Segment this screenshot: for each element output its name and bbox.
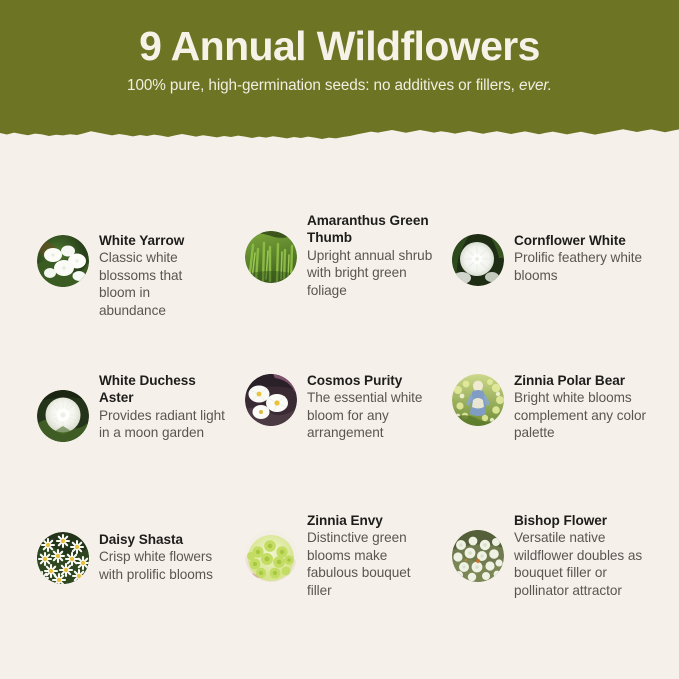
white-duchess-aster-photo [37, 390, 89, 442]
flower-name: Cosmos Purity [307, 372, 435, 389]
subtitle-italic-text: ever. [519, 77, 552, 94]
flower-name: White Yarrow [99, 232, 215, 249]
torn-paper-edge-icon [0, 119, 679, 144]
flower-description: Crisp white flowers with prolific blooms [99, 548, 222, 583]
flower-description: Classic white blossoms that bloom in abu… [99, 249, 215, 319]
subtitle-main-text: 100% pure, high-germination seeds: no ad… [127, 77, 515, 94]
flower-item-zinnia-envy[interactable]: Zinnia Envy Distinctive green blooms mak… [245, 512, 435, 599]
flower-description: Upright annual shrub with bright green f… [307, 247, 440, 299]
page-subtitle: 100% pure, high-germination seeds: no ad… [0, 77, 679, 95]
flower-name: Daisy Shasta [99, 531, 222, 548]
page-header: 9 Annual Wildflowers 100% pure, high-ger… [0, 0, 679, 144]
bishop-flower-photo [452, 530, 504, 582]
zinnia-polar-bear-photo [452, 374, 504, 426]
flower-item-zinnia-polar-bear[interactable]: Zinnia Polar Bear Bright white blooms co… [452, 372, 647, 442]
flower-item-cornflower-white[interactable]: Cornflower White Prolific feathery white… [452, 232, 647, 286]
flower-description: Bright white blooms complement any color… [514, 389, 647, 441]
flower-description: Versatile native wildflower doubles as b… [514, 529, 647, 599]
flower-item-cosmos-purity[interactable]: Cosmos Purity The essential white bloom … [245, 372, 435, 442]
flower-name: White Duchess Aster [99, 372, 227, 407]
flower-name: Amaranthus Green Thumb [307, 212, 440, 247]
flower-item-daisy-shasta[interactable]: Daisy Shasta Crisp white flowers with pr… [37, 531, 222, 584]
zinnia-envy-photo [245, 530, 297, 582]
cornflower-white-photo [452, 234, 504, 286]
white-yarrow-photo [37, 235, 89, 287]
flower-name: Zinnia Polar Bear [514, 372, 647, 389]
amaranthus-green-thumb-photo [245, 231, 297, 283]
flower-name: Bishop Flower [514, 512, 647, 529]
flower-description: Distinctive green blooms make fabulous b… [307, 529, 435, 599]
flower-description: Provides radiant light in a moon garden [99, 407, 227, 442]
cosmos-purity-photo [245, 374, 297, 426]
flower-item-bishop-flower[interactable]: Bishop Flower Versatile native wildflowe… [452, 512, 647, 599]
flower-description: Prolific feathery white blooms [514, 249, 647, 284]
flower-name: Cornflower White [514, 232, 647, 249]
flower-item-amaranthus-green-thumb[interactable]: Amaranthus Green Thumb Upright annual sh… [245, 212, 440, 299]
flower-item-white-duchess-aster[interactable]: White Duchess Aster Provides radiant lig… [37, 372, 227, 442]
wildflower-grid: White Yarrow Classic white blossoms that… [0, 144, 679, 679]
flower-item-white-yarrow[interactable]: White Yarrow Classic white blossoms that… [37, 232, 215, 319]
daisy-shasta-photo [37, 532, 89, 584]
page-title: 9 Annual Wildflowers [0, 24, 679, 70]
flower-description: The essential white bloom for any arrang… [307, 389, 435, 441]
flower-name: Zinnia Envy [307, 512, 435, 529]
